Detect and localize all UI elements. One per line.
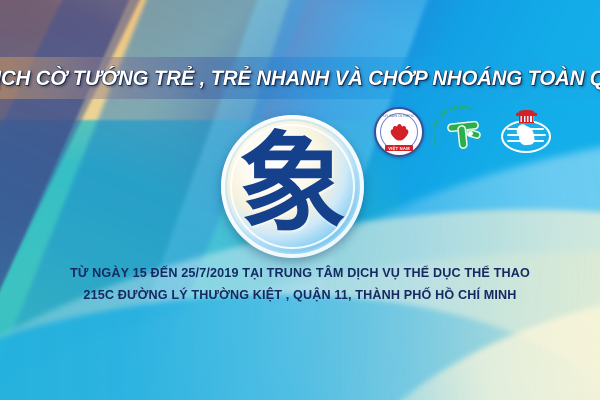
- vietnam-olympic-committee-logo: ỦY BAN OLYMPIC VIỆT NAM: [374, 107, 424, 157]
- tournament-poster: GIẢI VÔ ĐỊCH CỜ TƯỚNG TRẺ , TRẺ NHANH VÀ…: [0, 0, 600, 400]
- event-address: 215C ĐƯỜNG LÝ THƯỜNG KIỆT , QUẬN 11, THÀ…: [0, 286, 600, 305]
- seal-country-label: VIỆT NAM: [385, 145, 413, 151]
- lotus-icon: [386, 120, 412, 142]
- ho-chi-minh-city-sports-logo: THÀNH PHỐ HỒ CHÍ MINH: [436, 107, 488, 157]
- xiangqi-piece-emblem: 象: [221, 115, 364, 258]
- pavilion-icon: [516, 109, 537, 122]
- logo-row: ỦY BAN OLYMPIC VIỆT NAM THÀNH PHỐ HỒ CHÍ…: [374, 106, 564, 158]
- emblem-character: 象: [238, 131, 346, 239]
- hcmc-glyph-icon: [446, 119, 480, 149]
- poster-title: GIẢI VÔ ĐỊCH CỜ TƯỚNG TRẺ , TRẺ NHANH VÀ…: [15, 57, 585, 99]
- sports-center-oval-logo: [500, 107, 552, 157]
- event-date-venue: TỪ NGÀY 15 ĐẾN 25/7/2019 TẠI TRUNG TÂM D…: [0, 264, 600, 283]
- event-details: TỪ NGÀY 15 ĐẾN 25/7/2019 TẠI TRUNG TÂM D…: [0, 264, 600, 305]
- seal-top-arc-text: ỦY BAN OLYMPIC: [376, 114, 422, 118]
